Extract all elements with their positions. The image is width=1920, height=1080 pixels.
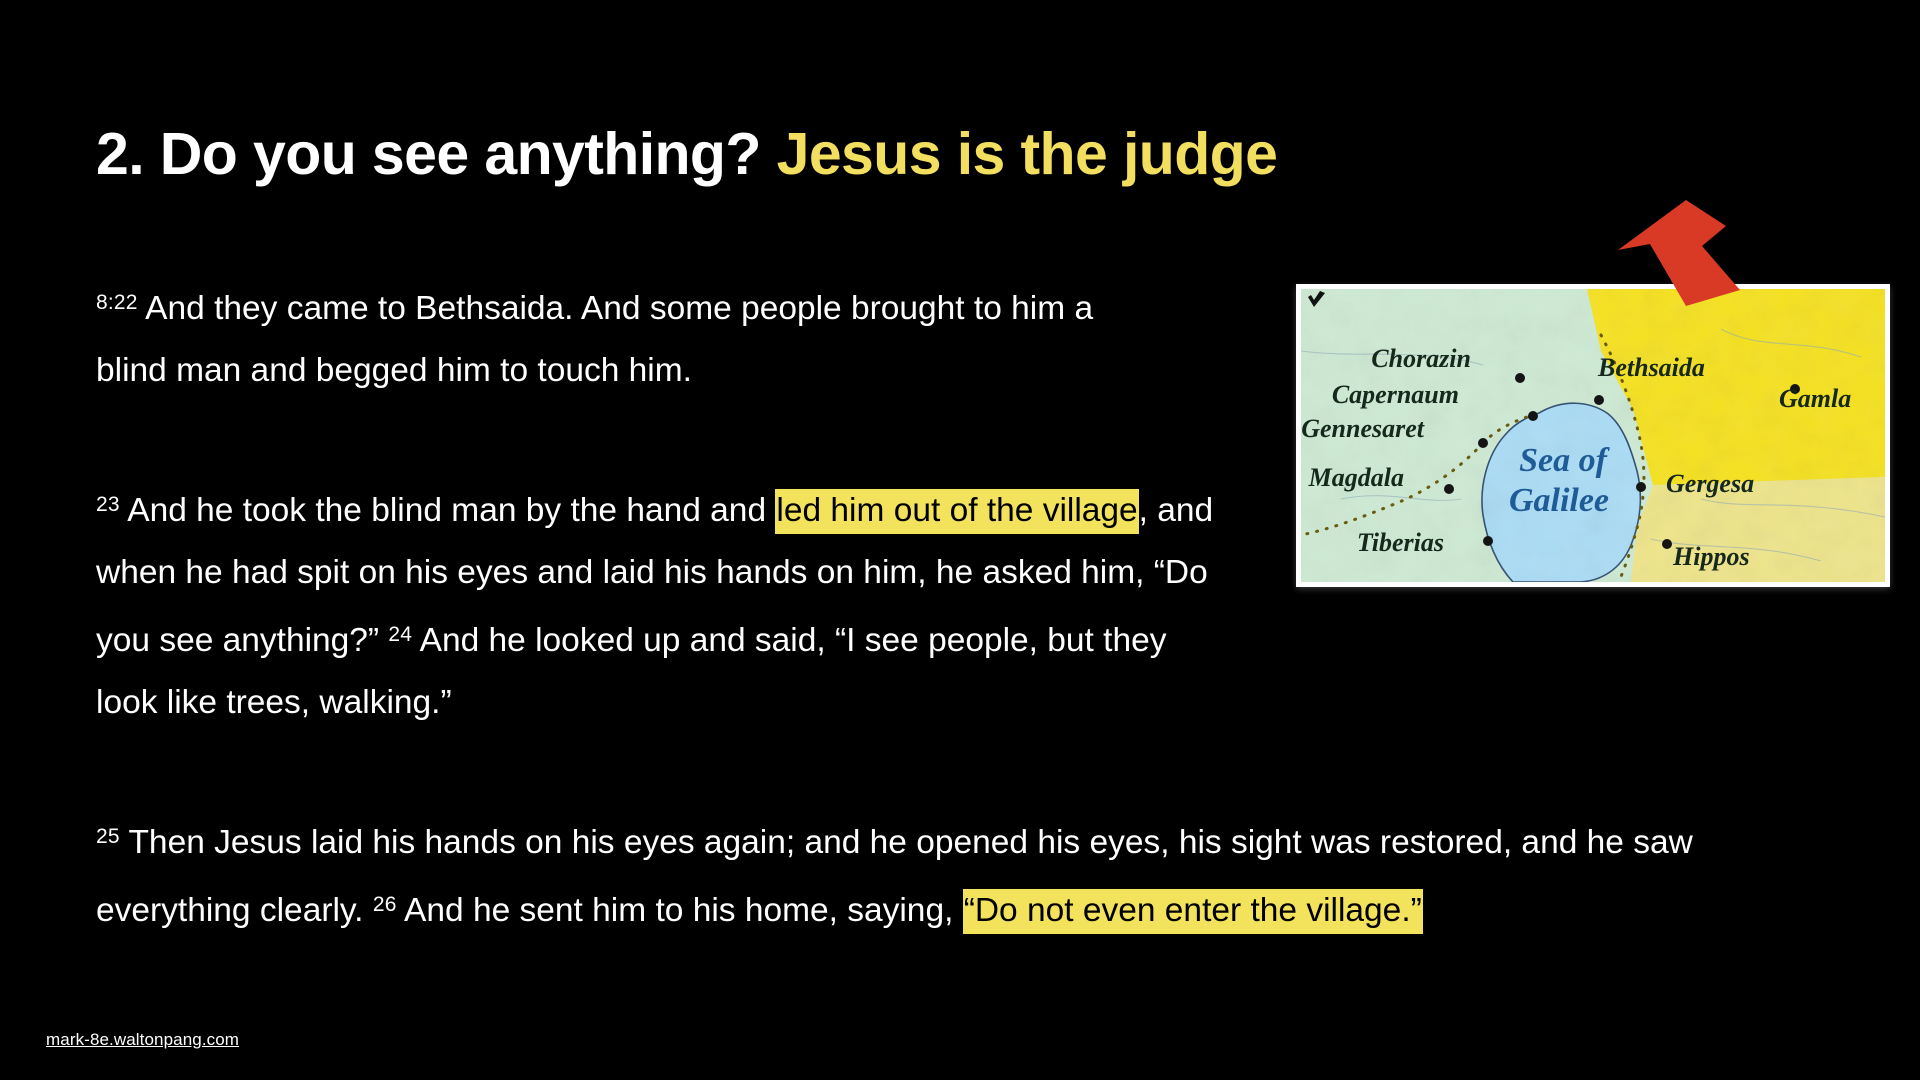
map-city-dot [1444, 484, 1454, 494]
map-city-dot [1478, 438, 1488, 448]
verse-number-26: 26 [373, 893, 397, 916]
map-city-dot [1515, 373, 1525, 383]
map-label-capernaum: Capernaum [1332, 380, 1459, 409]
map-city-dot [1483, 536, 1493, 546]
verse-number-25: 25 [96, 825, 120, 848]
verse-number-8-22: 8:22 [96, 291, 138, 314]
galilee-map-figure: ChorazinCapernaumGennesaretMagdalaTiberi… [1296, 284, 1890, 587]
map-label-gamla: Gamla [1779, 384, 1851, 413]
galilee-map-canvas: ChorazinCapernaumGennesaretMagdalaTiberi… [1301, 289, 1885, 582]
map-label-magdala: Magdala [1308, 463, 1404, 492]
map-label-gennesaret: Gennesaret [1301, 414, 1425, 443]
passage-paragraph-1-text: And they came to Bethsaida. And some peo… [96, 290, 1093, 389]
passage-paragraph-3-text-b: And he sent him to his home, saying, [404, 892, 963, 929]
footer-source-link[interactable]: mark-8e.waltonpang.com [46, 1030, 239, 1050]
passage-paragraph-2: 23 And he took the blind man by the hand… [96, 474, 1224, 734]
map-label-gergesa: Gergesa [1666, 469, 1754, 498]
passage-paragraph-2-text-a: And he took the blind man by the hand an… [127, 492, 775, 529]
map-label-tiberias: Tiberias [1357, 528, 1444, 557]
map-city-dot [1594, 395, 1604, 405]
verse-number-23: 23 [96, 493, 120, 516]
page-title: 2. Do you see anything? Jesus is the jud… [96, 124, 1277, 186]
page-title-accent: Jesus is the judge [777, 121, 1278, 187]
galilee-map-graphic: ChorazinCapernaumGennesaretMagdalaTiberi… [1301, 289, 1885, 582]
map-label-hippos: Hippos [1672, 542, 1750, 571]
page-title-primary: 2. Do you see anything? [96, 121, 761, 187]
map-label-sea-of: Sea of [1519, 442, 1611, 479]
passage-paragraph-1: 8:22 And they came to Bethsaida. And som… [96, 272, 1166, 402]
map-label-galilee: Galilee [1509, 482, 1609, 519]
map-city-dot [1662, 539, 1672, 549]
map-city-dot [1636, 482, 1646, 492]
passage-paragraph-3: 25 Then Jesus laid his hands on his eyes… [96, 806, 1841, 942]
highlight-led-him-out-of-the-village: led him out of the village [775, 489, 1138, 534]
map-city-dot [1528, 411, 1538, 421]
map-label-chorazin: Chorazin [1371, 344, 1471, 373]
map-label-bethsaida: Bethsaida [1597, 353, 1705, 382]
verse-number-24: 24 [388, 623, 412, 646]
highlight-do-not-even-enter-the-village: “Do not even enter the village.” [963, 889, 1423, 934]
